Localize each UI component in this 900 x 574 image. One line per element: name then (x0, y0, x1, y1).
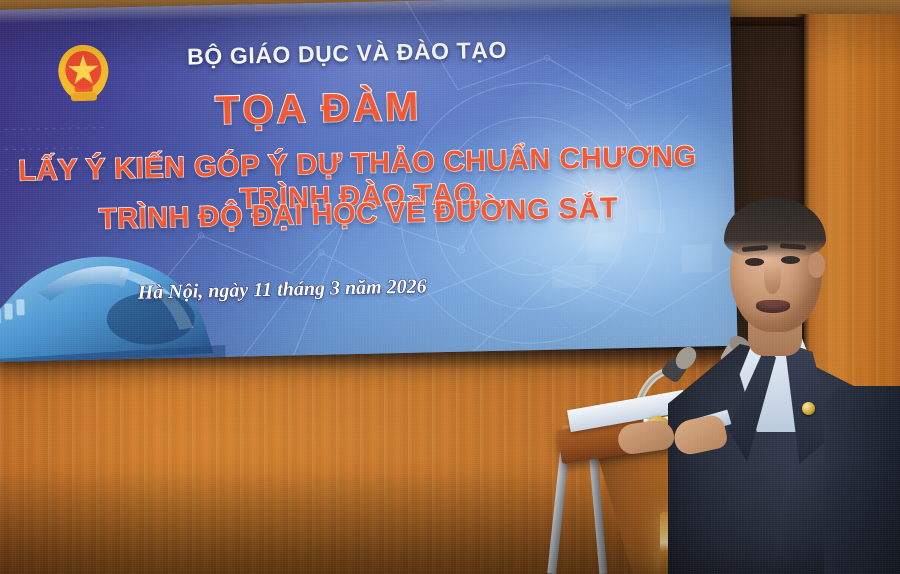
eye-left (745, 258, 764, 266)
mouth-speaking (756, 300, 790, 313)
ear (808, 252, 825, 278)
conference-photograph: BỘ GIÁO DỤC VÀ ĐÀO TẠO TỌA ĐÀM LẤY Ý KIẾ… (0, 0, 900, 574)
male-speaker-at-podium (676, 186, 900, 574)
hair (724, 198, 826, 258)
nose (764, 264, 781, 294)
gold-lapel-pin (802, 402, 815, 415)
arm-right (824, 386, 900, 574)
eye-right (781, 256, 800, 264)
vietnam-national-emblem (53, 40, 114, 107)
banner-event-type: TỌA ĐÀM (118, 82, 519, 136)
event-backdrop-banner: BỘ GIÁO DỤC VÀ ĐÀO TẠO TỌA ĐÀM LẤY Ý KIẾ… (0, 0, 738, 362)
